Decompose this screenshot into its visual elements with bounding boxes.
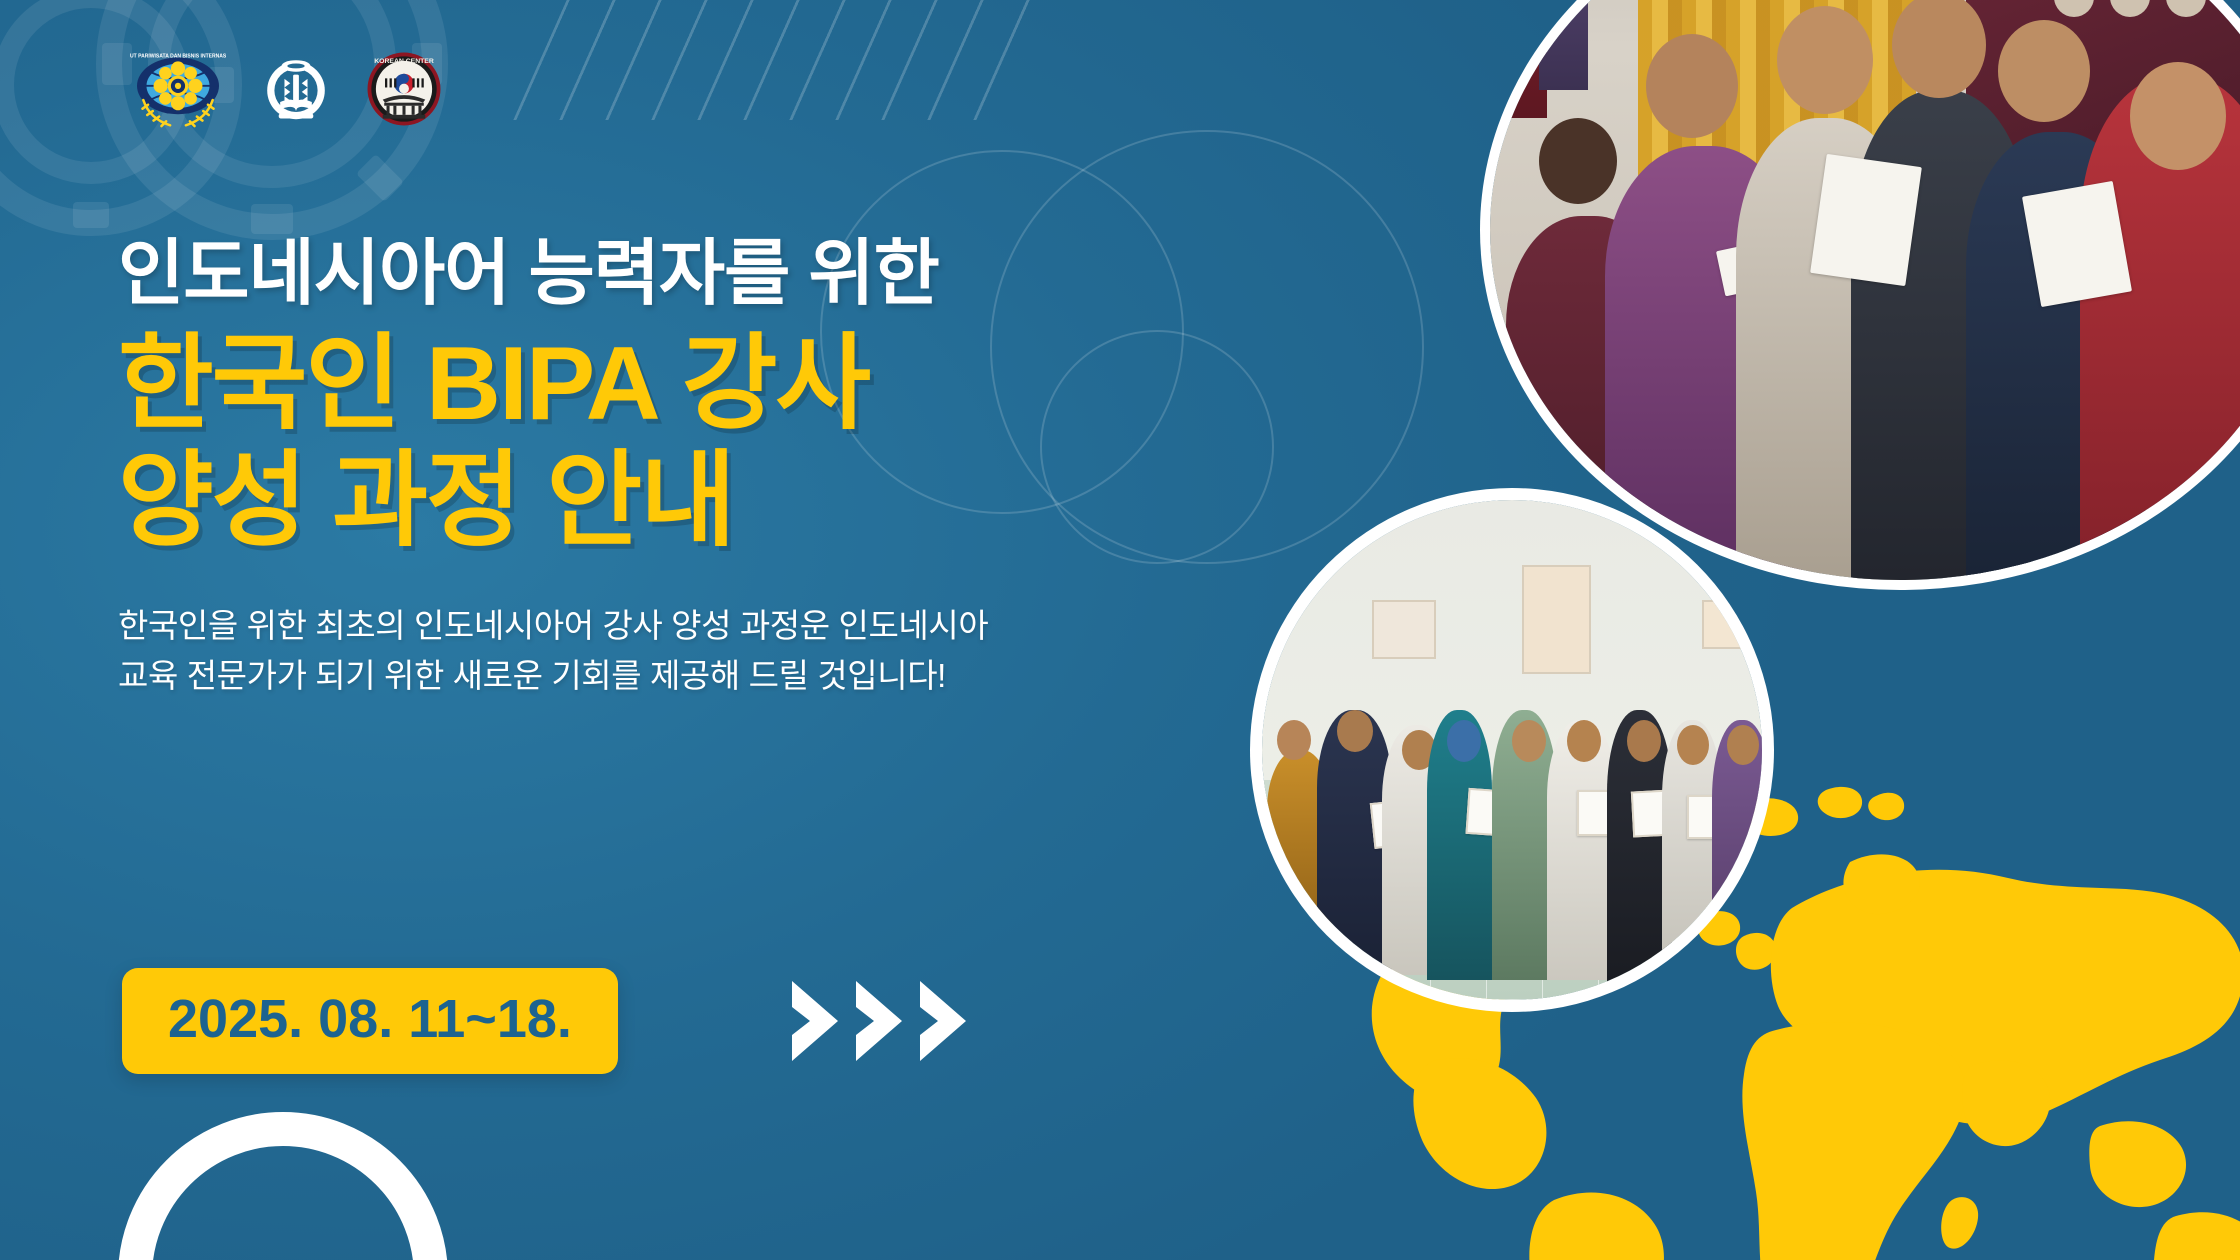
promo-banner: KIND (KOREA-INDONES EDUCATION AND MOU IL…	[0, 0, 2240, 1260]
logo-korean-center: KOREAN CENTER	[366, 51, 442, 127]
lede-paragraph: 한국인을 위한 최초의 인도네시아어 강사 양성 과정운 인도네시아 교육 전문…	[118, 601, 1298, 701]
logo-1-ring-text: INSTITUT PARIWISATA DAN BISNIS INTERNASI…	[130, 53, 226, 59]
chevron-right-icon	[914, 977, 972, 1065]
hatch-lines-decoration	[513, 0, 1106, 120]
chevron-arrows	[786, 977, 972, 1065]
date-badge[interactable]: 2025. 08. 11~18.	[122, 968, 618, 1074]
photo-workshop-participants: KIND (KOREA-INDONES EDUCATION AND MOU IL…	[1490, 0, 2240, 580]
chevron-right-icon	[850, 977, 908, 1065]
page-title: 한국인 BIPA 강사 양성 과정 안내	[118, 326, 1298, 559]
headline-line-1: 한국인 BIPA 강사	[118, 326, 869, 442]
headline-line-2: 양성 과정 안내	[118, 443, 1298, 559]
lede-line-2: 교육 전문가가 되기 위한 새로운 기회를 제공해 드릴 것입니다!	[118, 651, 1298, 701]
ring-icon	[118, 1112, 448, 1260]
logo-white-emblem-book-keys	[260, 53, 332, 125]
photo-certificate-group	[1262, 500, 1762, 1000]
logo-institut-pariwisata-dan-bisnis-internasional: INSTITUT PARIWISATA DAN BISNIS INTERNASI…	[130, 48, 226, 130]
date-and-arrows: 2025. 08. 11~18.	[122, 968, 972, 1074]
lede-line-1: 한국인을 위한 최초의 인도네시아어 강사 양성 과정운 인도네시아	[118, 601, 1298, 651]
kicker-text: 인도네시아어 능력자를 위한	[118, 236, 1298, 312]
chevron-right-icon	[786, 977, 844, 1065]
logo-3-ring-text: KOREAN CENTER	[374, 58, 434, 65]
headline-block: 인도네시아어 능력자를 위한 한국인 BIPA 강사 양성 과정 안내 한국인을…	[118, 236, 1298, 702]
partner-logos: INSTITUT PARIWISATA DAN BISNIS INTERNASI…	[130, 48, 442, 130]
